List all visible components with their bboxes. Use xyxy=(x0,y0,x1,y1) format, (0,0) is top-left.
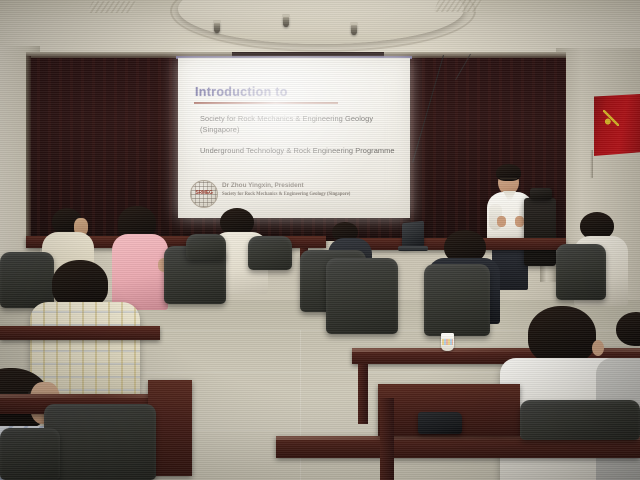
conference-room-photo: Introduction to Society for Rock Mechani… xyxy=(0,0,640,480)
chair xyxy=(0,252,54,308)
flag-pole xyxy=(590,150,593,178)
laptop-base xyxy=(398,246,428,251)
table-gloss xyxy=(0,394,166,398)
panel-left-edge xyxy=(26,56,31,241)
av-equipment-top xyxy=(530,188,552,200)
presenter-left-hand xyxy=(497,216,506,227)
ceiling-spotlight-2 xyxy=(283,16,289,27)
attendee-ear xyxy=(592,340,604,356)
projection-screen: Introduction to Society for Rock Mechani… xyxy=(178,58,410,218)
chair xyxy=(520,400,640,440)
screen-glare xyxy=(178,58,410,218)
chair xyxy=(424,264,490,336)
attendee-hair xyxy=(52,260,108,308)
ceiling-spotlight-3 xyxy=(351,24,357,35)
paper-cup-rim xyxy=(441,333,454,336)
table-leg xyxy=(358,364,368,424)
presenter-right-hand xyxy=(515,216,524,227)
desk-leg xyxy=(380,398,394,480)
chair xyxy=(326,258,398,334)
presenter-glasses-icon xyxy=(500,178,517,183)
table-middle xyxy=(0,326,160,340)
air-vent-right-icon xyxy=(434,0,483,12)
shoulder-bag xyxy=(418,412,462,434)
chair xyxy=(0,428,60,480)
chair xyxy=(186,234,226,260)
paper-cup xyxy=(441,334,454,351)
attendee-shirt xyxy=(112,234,168,310)
attendee-hair xyxy=(528,306,596,364)
chair xyxy=(248,236,292,270)
av-equipment-rack xyxy=(524,198,556,266)
air-vent-left-icon xyxy=(88,1,137,13)
chair xyxy=(556,244,606,300)
ceiling-spotlight-1 xyxy=(214,22,220,33)
chair xyxy=(44,404,156,480)
communist-party-flag-icon xyxy=(594,94,640,156)
